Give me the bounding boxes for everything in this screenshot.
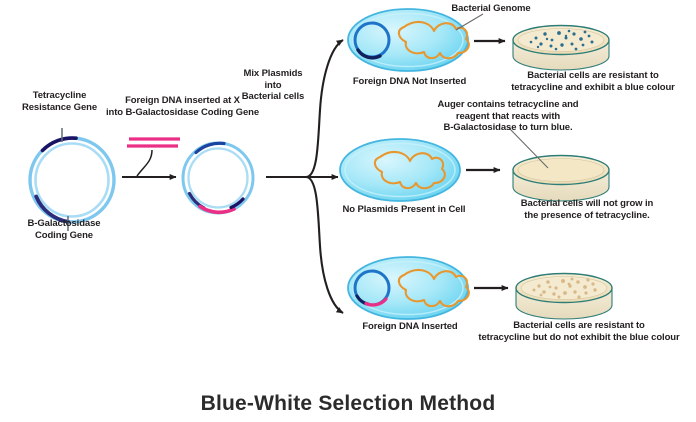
caption-cell-top: Foreign DNA Not Inserted <box>332 76 487 88</box>
label-bgalactosidase-coding-gene: B-Galactosidase Coding Gene <box>4 218 124 241</box>
caption-result-bottom: Bacterial cells are resistant to tetracy… <box>462 320 696 343</box>
blue-white-selection-diagram: Tetracycline Resistance Gene B-Galactosi… <box>0 0 696 422</box>
bacterial-cell-middle <box>340 139 460 201</box>
petri-dish-top <box>513 26 609 71</box>
caption-result-middle: Bacterial cells will not grow in the pre… <box>492 198 682 221</box>
caption-cell-bottom: Foreign DNA Inserted <box>338 321 482 333</box>
arrow-branch-bottom <box>306 177 343 313</box>
label-mix-plasmids-step: Mix Plasmids into Bacterial cells <box>232 68 314 103</box>
petri-dish-middle <box>509 128 609 201</box>
figure-title: Blue-White Selection Method <box>0 392 696 416</box>
plasmid-original <box>30 128 114 231</box>
label-agar-note: Auger contains tetracycline and reagent … <box>408 99 608 134</box>
bacterial-cell-top <box>348 9 483 71</box>
caption-result-top: Bacterial cells are resistant to tetracy… <box>490 70 696 93</box>
foreign-dna-fragment <box>127 139 180 176</box>
label-bacterial-genome: Bacterial Genome <box>436 3 546 15</box>
caption-cell-middle: No Plasmids Present in Cell <box>330 204 478 216</box>
plasmid-recombinant <box>183 143 253 213</box>
petri-dish-bottom <box>516 274 612 320</box>
bacterial-cell-bottom <box>348 257 469 319</box>
arrow-branch-top <box>306 40 343 177</box>
